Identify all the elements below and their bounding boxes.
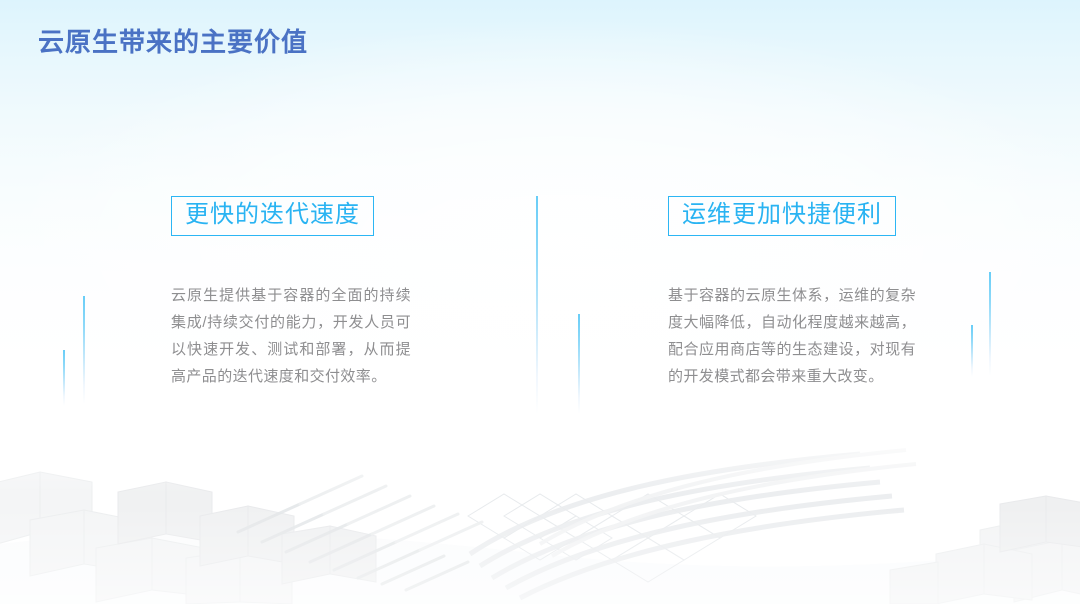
accent-vertical-line-right-tall [989,272,991,376]
value-column-1-heading: 更快的迭代速度 [171,196,374,236]
accent-vertical-line-left-short [63,350,65,406]
3d-cube-landscape-background [0,424,1080,604]
accent-vertical-line-right-short [971,325,973,377]
background-haze [0,0,1080,420]
accent-vertical-line-center-tall [536,196,538,414]
accent-vertical-line-left-tall [83,296,85,404]
value-column-2-body: 基于容器的云原生体系，运维的复杂度大幅降低，自动化程度越来越高，配合应用商店等的… [668,282,916,390]
slide-canvas: 云原生带来的主要价值 更快的迭代速度 云原生提供基于容器的全面的持续集成/持续交… [0,0,1080,604]
value-column-1-body: 云原生提供基于容器的全面的持续集成/持续交付的能力，开发人员可以快速开发、测试和… [171,282,411,390]
page-title: 云原生带来的主要价值 [38,22,308,59]
value-column-2: 运维更加快捷便利 基于容器的云原生体系，运维的复杂度大幅降低，自动化程度越来越高… [668,196,916,390]
value-column-1: 更快的迭代速度 云原生提供基于容器的全面的持续集成/持续交付的能力，开发人员可以… [171,196,411,390]
accent-vertical-line-center-short [578,314,580,414]
value-column-2-heading: 运维更加快捷便利 [668,196,896,236]
